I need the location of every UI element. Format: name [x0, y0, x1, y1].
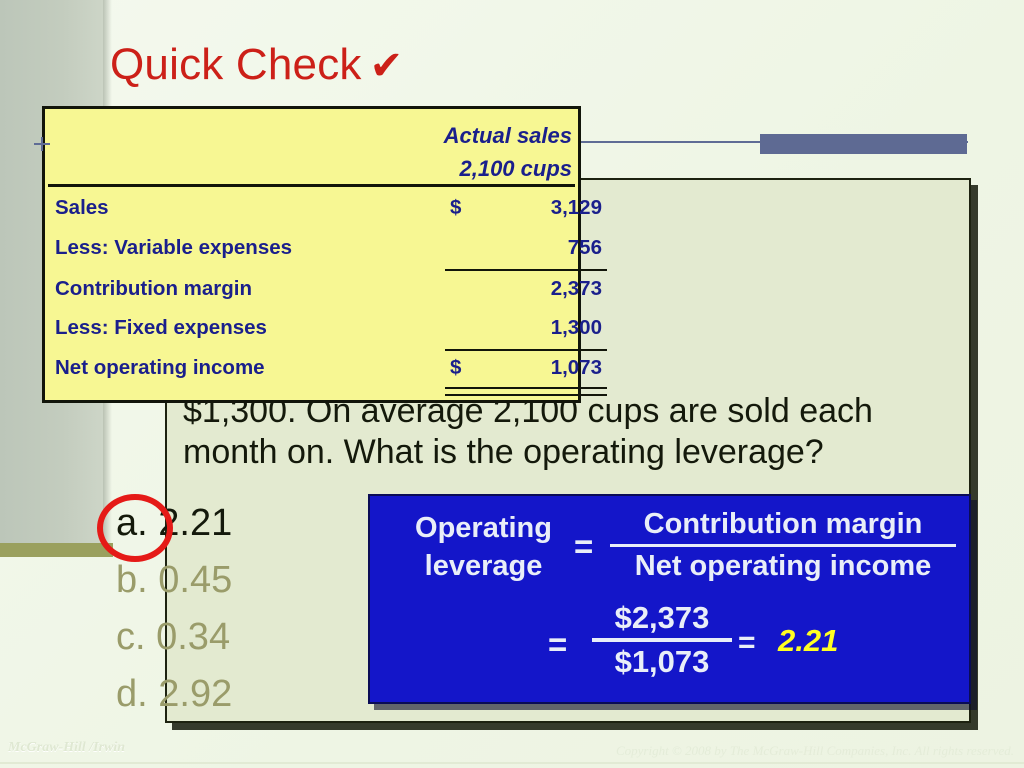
table-column-header: Actual sales 2,100 cups: [444, 119, 572, 185]
answer-choice-d[interactable]: d. 2.92: [116, 666, 232, 723]
header-accent-bar: [760, 134, 967, 154]
table-header-rule: [48, 184, 575, 187]
table-header-line1: Actual sales: [444, 119, 572, 152]
fraction-bar: [610, 544, 956, 547]
left-band-accent-stripe: [0, 543, 113, 557]
correct-answer-circle-icon: [97, 494, 173, 562]
footer-publisher: McGraw-Hill /Irwin: [8, 740, 125, 756]
table-header-line2: 2,100 cups: [444, 152, 572, 185]
footer-copyright: Copyright © 2008 by The McGraw-Hill Comp…: [616, 743, 1014, 759]
row-label: Contribution margin: [55, 277, 252, 301]
subtotal-rule: [445, 349, 607, 351]
row-value: 3,129: [477, 196, 602, 220]
equals-sign-2: =: [548, 626, 567, 664]
equals-sign-3: =: [738, 626, 756, 660]
row-label: Less: Variable expenses: [55, 236, 292, 260]
income-statement-table: Actual sales 2,100 cups Sales $ 3,129 Le…: [42, 106, 581, 403]
table-row: Net operating income $ 1,073: [45, 356, 578, 390]
formula-term: Operating leverage: [396, 509, 571, 585]
row-label: Sales: [55, 196, 109, 220]
page-title: Quick Check✔: [110, 40, 403, 90]
answer-choice-c[interactable]: c. 0.34: [116, 609, 232, 666]
formula-fraction-1: Contribution margin Net operating income: [610, 508, 956, 583]
formula-result: 2.21: [778, 623, 838, 659]
footer-divider: [0, 762, 1024, 764]
equals-sign-1: =: [574, 528, 593, 566]
formula-term-line1: Operating: [396, 509, 571, 547]
total-double-rule: [445, 387, 607, 396]
row-label: Less: Fixed expenses: [55, 316, 267, 340]
formula-box: Operating leverage = Contribution margin…: [368, 494, 971, 704]
table-row: Less: Fixed expenses 1,300: [45, 316, 578, 350]
worksheet-tick-left-vertical: [41, 137, 43, 151]
table-row: Less: Variable expenses 756: [45, 236, 578, 270]
formula-fraction-2: $2,373 $1,073: [592, 600, 732, 680]
page-title-text: Quick Check: [110, 40, 362, 89]
row-value: 2,373: [477, 277, 602, 301]
question-line: month on. What is the operating leverage…: [183, 432, 963, 473]
row-value: 1,300: [477, 316, 602, 340]
formula-term-line2: leverage: [396, 547, 571, 585]
table-row: Contribution margin 2,373: [45, 277, 578, 311]
slide-canvas: Quick Check✔ sso stand in a The average …: [0, 0, 1024, 768]
table-row: Sales $ 3,129: [45, 196, 578, 230]
fraction-bar: [592, 638, 732, 642]
fraction-numerator: Contribution margin: [610, 508, 956, 543]
row-value: 1,073: [477, 356, 602, 380]
subtotal-rule: [445, 269, 607, 271]
row-currency: $: [450, 356, 461, 380]
fraction-denominator: $1,073: [592, 644, 732, 680]
check-icon: ✔: [370, 44, 404, 88]
row-currency: $: [450, 196, 461, 220]
row-value: 756: [477, 236, 602, 260]
row-label: Net operating income: [55, 356, 265, 380]
fraction-denominator: Net operating income: [610, 550, 956, 583]
fraction-numerator: $2,373: [592, 600, 732, 636]
